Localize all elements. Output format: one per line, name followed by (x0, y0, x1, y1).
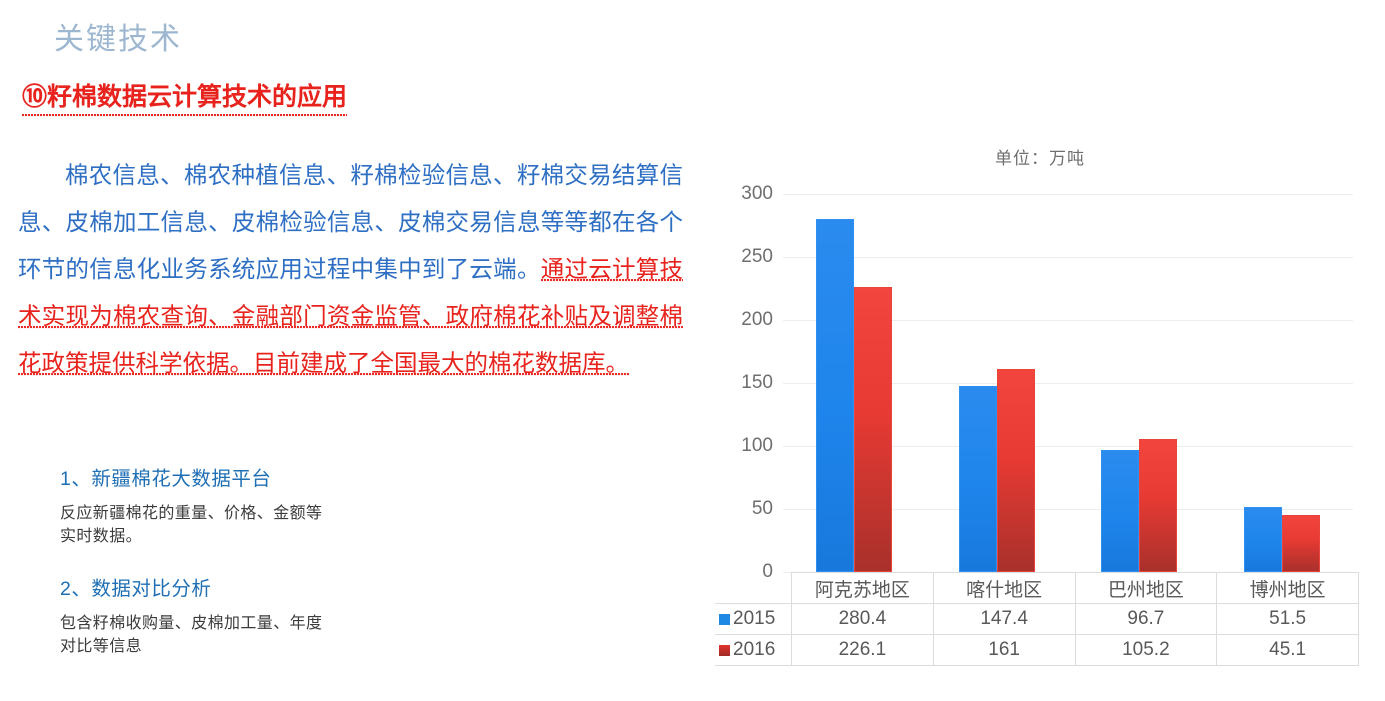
body-paragraph: 棉农信息、棉农种植信息、籽棉检验信息、籽棉交易结算信息、皮棉加工信息、皮棉检验信… (18, 152, 683, 387)
chart-bar-2015-博州地区[interactable] (1244, 507, 1282, 572)
y-axis-tick-label: 150 (741, 372, 773, 394)
data-table-col-header: 博州地区 (1217, 573, 1359, 604)
data-table-cell: 45.1 (1217, 635, 1359, 666)
chart-bar-2016-博州地区[interactable] (1282, 515, 1320, 572)
chart-bar-2015-阿克苏地区[interactable] (816, 219, 854, 572)
sub-section-1: 1、新疆棉花大数据平台 反应新疆棉花的重量、价格、金额等 实时数据。 (60, 462, 322, 548)
chart-bar-2016-喀什地区[interactable] (997, 369, 1035, 572)
data-table-col-header: 阿克苏地区 (792, 573, 934, 604)
page-title: 关键技术 (54, 14, 182, 58)
chart-bar-2016-巴州地区[interactable] (1139, 439, 1177, 572)
y-axis-tick-label: 200 (741, 309, 773, 331)
data-table-cell: 51.5 (1217, 604, 1359, 635)
data-table-cell: 147.4 (933, 604, 1075, 635)
data-table-cell: 280.4 (792, 604, 934, 635)
data-table-cell: 161 (933, 635, 1075, 666)
data-table-row: 2015280.4147.496.751.5 (715, 604, 1359, 635)
legend-swatch-2015 (719, 614, 730, 625)
sub-section-1-description: 反应新疆棉花的重量、价格、金额等 实时数据。 (60, 502, 322, 548)
section-heading: ⑩籽棉数据云计算技术的应用 (22, 77, 347, 117)
legend-label-2016: 2016 (715, 635, 792, 666)
chart-bar-group (1211, 194, 1354, 572)
chart-bar-2016-阿克苏地区[interactable] (854, 287, 892, 572)
data-table-col-header: 巴州地区 (1075, 573, 1217, 604)
sub-section-2-heading: 2、数据对比分析 (60, 572, 322, 601)
chart-title: 单位：万吨 (705, 144, 1375, 169)
y-axis-tick-label: 100 (741, 435, 773, 457)
y-axis-tick-label: 300 (741, 183, 773, 205)
data-table-head: 阿克苏地区喀什地区巴州地区博州地区 (715, 573, 1359, 604)
data-table-body: 2015280.4147.496.751.52016226.1161105.24… (715, 604, 1359, 666)
sub-section-2: 2、数据对比分析 包含籽棉收购量、皮棉加工量、年度 对比等信息 (60, 572, 322, 658)
data-table-row: 2016226.1161105.245.1 (715, 635, 1359, 666)
y-axis-tick-label: 250 (741, 246, 773, 268)
content-column: 关键技术 ⑩籽棉数据云计算技术的应用 棉农信息、棉农种植信息、籽棉检验信息、籽棉… (0, 0, 700, 701)
legend-label-2015: 2015 (715, 604, 792, 635)
chart-bar-2015-巴州地区[interactable] (1101, 450, 1139, 572)
chart-panel: 单位：万吨 050100150200250300 阿克苏地区喀什地区巴州地区博州… (705, 128, 1375, 680)
sub-section-1-heading: 1、新疆棉花大数据平台 (60, 462, 322, 491)
data-table-header-row: 阿克苏地区喀什地区巴州地区博州地区 (715, 573, 1359, 604)
data-table-corner (715, 573, 792, 604)
data-table-cell: 226.1 (792, 635, 934, 666)
data-table-col-header: 喀什地区 (933, 573, 1075, 604)
chart-bar-2015-喀什地区[interactable] (959, 386, 997, 572)
chart-bar-group (783, 194, 926, 572)
data-table-cell: 105.2 (1075, 635, 1217, 666)
chart-data-table: 阿克苏地区喀什地区巴州地区博州地区 2015280.4147.496.751.5… (715, 572, 1359, 666)
chart-bar-group (1068, 194, 1211, 572)
chart-plot-area: 050100150200250300 (783, 194, 1353, 572)
chart-bar-group (926, 194, 1069, 572)
sub-section-2-description: 包含籽棉收购量、皮棉加工量、年度 对比等信息 (60, 612, 322, 658)
legend-swatch-2016 (719, 645, 730, 656)
y-axis-tick-label: 50 (752, 498, 773, 520)
data-table-cell: 96.7 (1075, 604, 1217, 635)
